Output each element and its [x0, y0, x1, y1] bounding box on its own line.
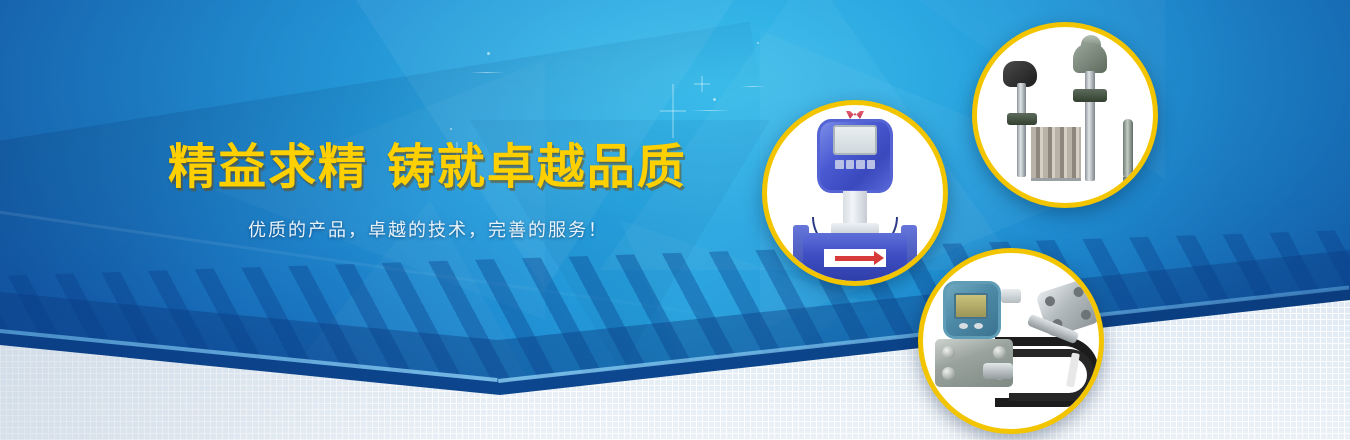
sensor-head-green [1073, 43, 1107, 73]
temperature-sensor-image [977, 27, 1153, 203]
sparkle-cross [660, 84, 686, 138]
promo-banner: 精益求精 铸就卓越品质 优质的产品，卓越的技术，完善的服务！ [0, 0, 1350, 440]
sensor-single-probe [1123, 119, 1133, 181]
flange-hole [1080, 308, 1093, 321]
sensor-probe-bundle [1031, 127, 1081, 181]
sensor-flange-left [1007, 113, 1037, 125]
sparkle-dot [487, 52, 490, 55]
sparkle-cross [694, 76, 710, 92]
flange-hole [1072, 286, 1085, 299]
flange-hole [1044, 295, 1057, 308]
sensor-stem-right [1085, 71, 1095, 181]
sparkle-dot [450, 128, 452, 130]
sparkle-dot [713, 98, 716, 101]
flow-direction-arrow-icon [824, 249, 886, 267]
flowmeter-buttons [835, 160, 875, 169]
transmitter-conduit-port [1001, 289, 1021, 303]
base-bolt [993, 346, 1006, 359]
product-circle-flowmeter[interactable] [762, 100, 948, 286]
base-bolt [942, 367, 955, 380]
transmitter-cable-inner [1009, 349, 1095, 401]
base-bolt [942, 346, 955, 359]
flowmeter-lcd-display [833, 125, 877, 155]
flowmeter-image [767, 105, 943, 281]
sparkle-line [690, 110, 730, 111]
page-subtitle: 优质的产品，卓越的技术，完善的服务！ [168, 216, 688, 242]
flowmeter-logo [846, 111, 864, 119]
sensor-stem-left [1017, 83, 1026, 177]
transmitter-display [954, 293, 988, 319]
sparkle-line [740, 86, 766, 87]
sparkle-line [470, 72, 504, 73]
page-title: 精益求精 铸就卓越品质 [168, 142, 688, 194]
probe-tip [1123, 177, 1133, 189]
product-circle-temperature-sensors[interactable] [972, 22, 1158, 208]
pressure-transmitter-image [923, 253, 1099, 429]
headline-block: 精益求精 铸就卓越品质 优质的产品，卓越的技术，完善的服务！ [168, 142, 688, 242]
sparkle-dot [757, 42, 759, 44]
cable-connector [983, 363, 1013, 379]
transmitter-adjust-knobs [959, 323, 983, 329]
sensor-flange-right [1073, 89, 1107, 102]
product-circle-pressure-transmitter[interactable] [918, 248, 1104, 434]
